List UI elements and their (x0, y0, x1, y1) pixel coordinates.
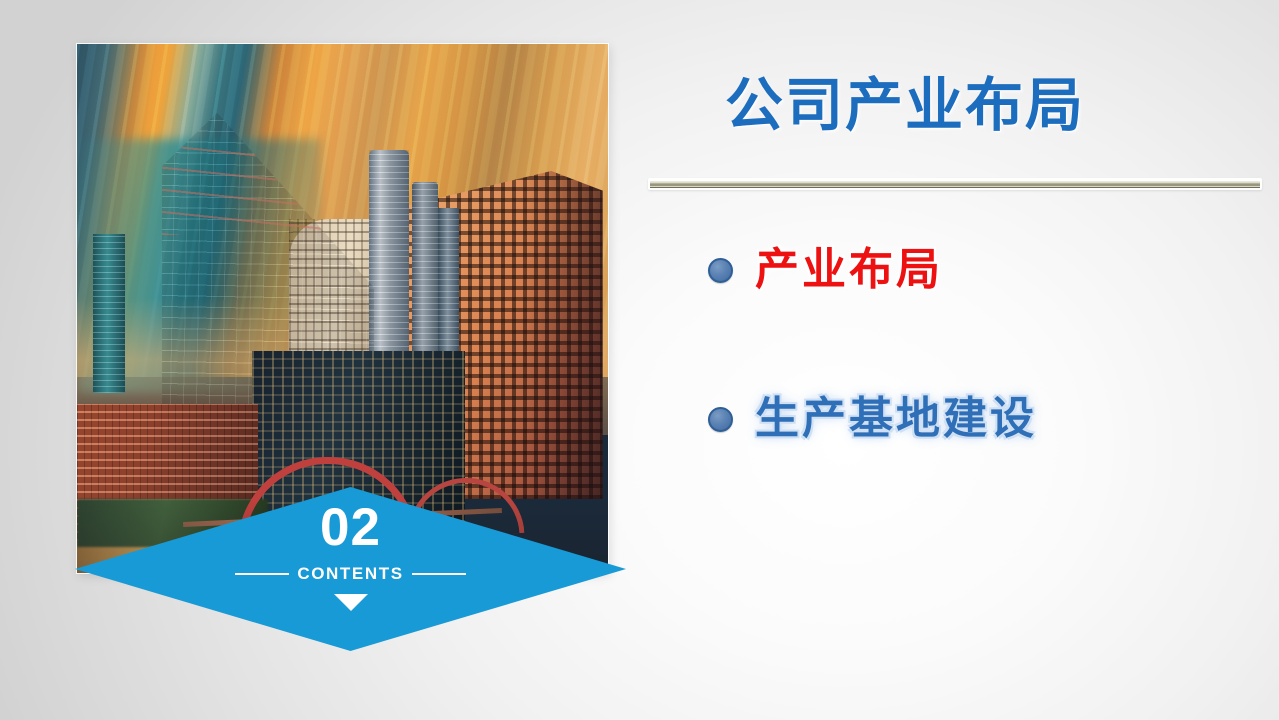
list-item-label: 生产基地建设 (755, 397, 1037, 441)
bullet-list: 产业布局 生产基地建设 (708, 238, 1268, 451)
list-item[interactable]: 生产基地建设 (708, 387, 1268, 451)
bullet-dot-icon (708, 258, 733, 283)
title-divider-bar (650, 181, 1260, 188)
list-item[interactable]: 产业布局 (708, 238, 1268, 302)
slide-canvas: 02 CONTENTS 公司产业布局 产业布局 生产基地建设 (0, 0, 1279, 720)
page-title: 公司产业布局 (725, 75, 1245, 138)
bullet-dot-icon (708, 407, 733, 432)
content-pane: 公司产业布局 产业布局 生产基地建设 (630, 0, 1279, 720)
list-item-label: 产业布局 (755, 248, 943, 292)
silver-tower-a (369, 150, 409, 383)
title-divider (648, 178, 1262, 190)
teal-tower (93, 234, 125, 393)
